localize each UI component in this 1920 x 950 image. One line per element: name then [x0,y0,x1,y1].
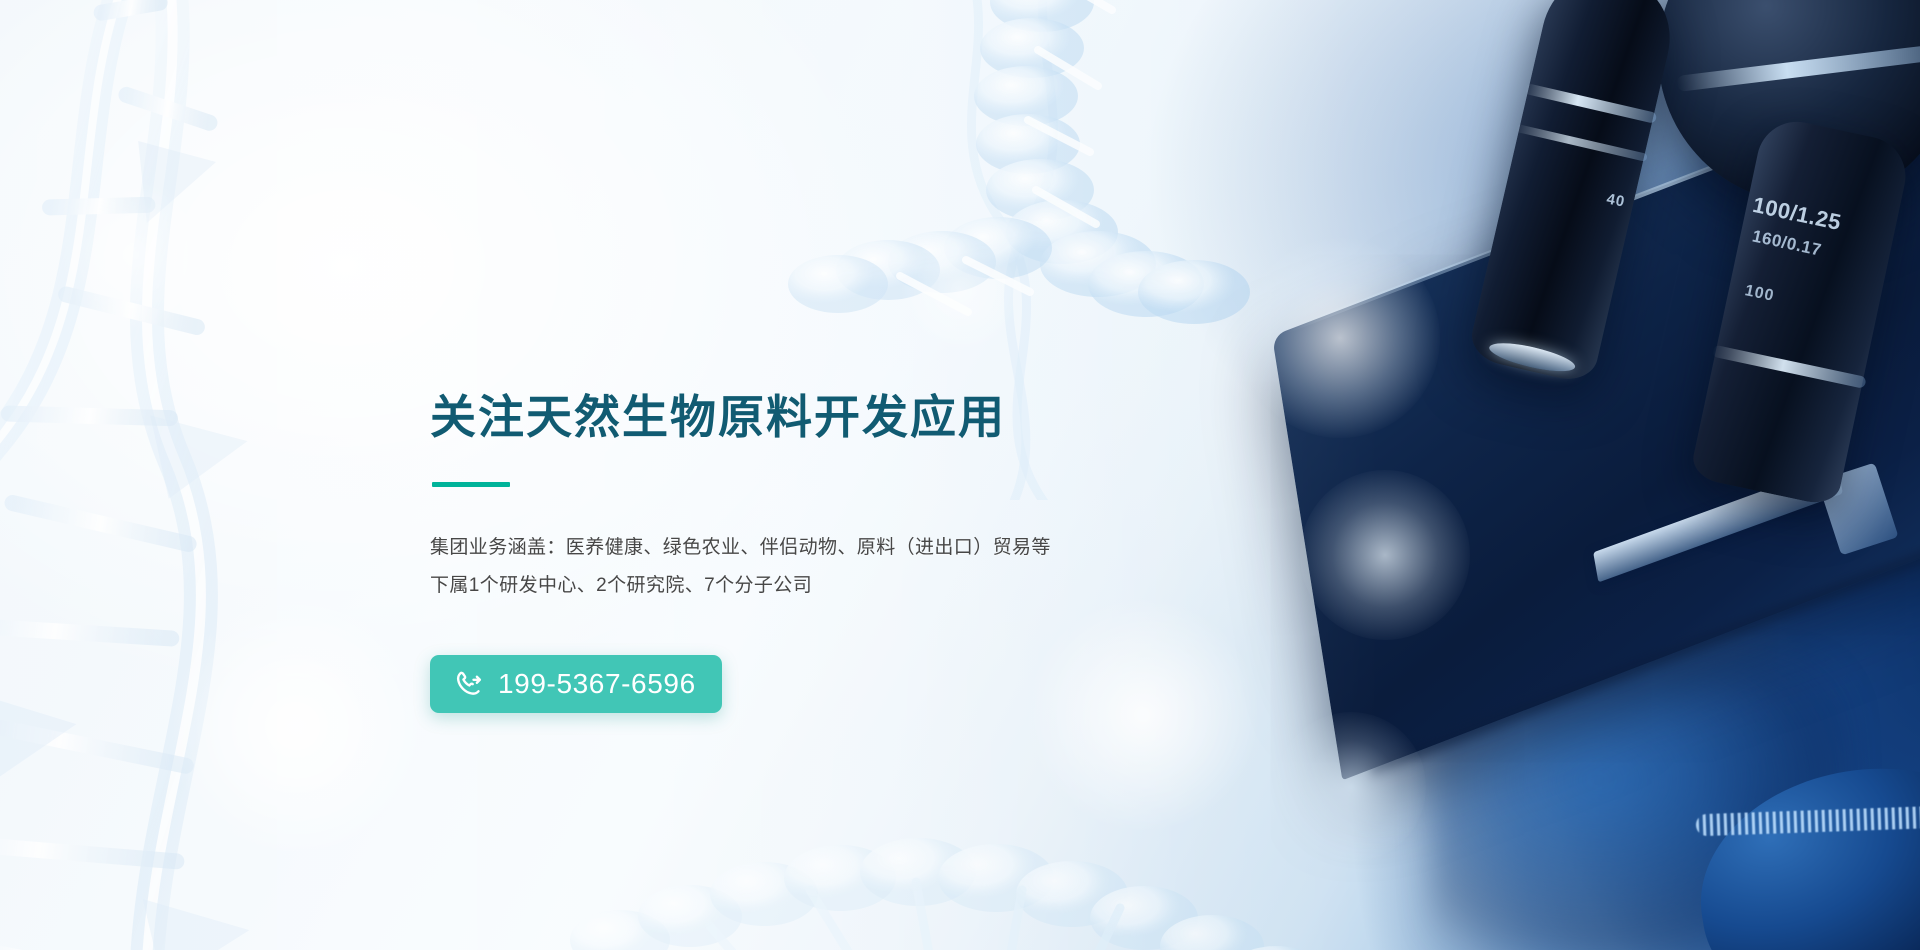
phone-number-text: 199-5367-6596 [498,670,696,698]
hero-description-line-2: 下属1个研发中心、2个研究院、7个分子公司 [430,567,1170,605]
title-underline-accent [432,482,510,487]
phone-forwarded-icon [454,669,484,699]
objective-tube-length-label: 160/0.17 [1750,226,1823,260]
bokeh-light-spot [900,230,1020,350]
objective-ring [1525,83,1657,124]
hero-banner: 40 100/1.25 160/0.17 100 关注天然生物原料开发应用 集团… [0,0,1920,950]
objective-mag-40-label: 40 [1605,190,1627,210]
bokeh-light-spot [166,596,426,856]
objective-ring [1516,124,1647,162]
hero-description: 集团业务涵盖：医养健康、绿色农业、伴侣动物、原料（进出口）贸易等 下属1个研发中… [430,529,1170,605]
bokeh-light-spot [60,180,210,330]
objective-ring [1712,345,1867,389]
hero-copy-block: 关注天然生物原料开发应用 集团业务涵盖：医养健康、绿色农业、伴侣动物、原料（进出… [430,390,1170,713]
hero-description-line-1: 集团业务涵盖：医养健康、绿色农业、伴侣动物、原料（进出口）贸易等 [430,529,1170,567]
phone-cta-button[interactable]: 199-5367-6596 [430,655,722,713]
objective-mag-100-label: 100 [1743,282,1776,306]
page-title: 关注天然生物原料开发应用 [430,390,1170,444]
